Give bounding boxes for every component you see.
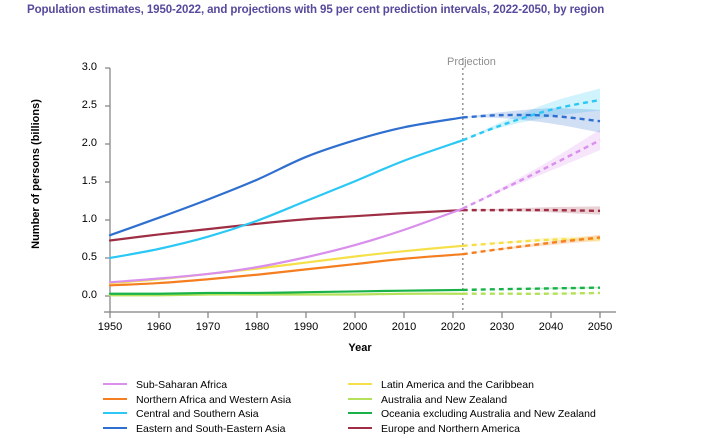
y-axis-tick-label: 2.5 — [63, 99, 97, 111]
x-axis-tick-label: 2030 — [482, 321, 522, 333]
y-axis-tick-label: 0.5 — [63, 251, 97, 263]
legend-item-label: Eastern and South-Eastern Asia — [136, 422, 285, 436]
y-axis-tick-label: 2.0 — [63, 137, 97, 149]
legend-item-label: Northern Africa and Western Asia — [136, 393, 291, 407]
y-axis-title: Number of persons (billions) — [30, 74, 42, 274]
legend-swatch-icon — [103, 383, 127, 385]
chart-plot-area: Number of persons (billions) Year Projec… — [0, 0, 701, 441]
chart-svg — [0, 0, 701, 441]
series-line-historical — [110, 210, 463, 240]
legend-item-label: Europe and Northern America — [381, 422, 520, 436]
x-axis-tick-label: 2000 — [335, 321, 375, 333]
legend-item[interactable]: Sub-Saharan Africa — [103, 378, 227, 392]
y-axis-tick-label: 3.0 — [63, 61, 97, 73]
series-line-historical — [110, 254, 463, 285]
legend-item[interactable]: Australia and New Zealand — [348, 393, 507, 407]
legend-swatch-icon — [348, 427, 372, 429]
legend-swatch-icon — [348, 398, 372, 400]
legend-item[interactable]: Latin America and the Caribbean — [348, 378, 534, 392]
prediction-interval-band — [463, 130, 600, 209]
legend-swatch-icon — [348, 412, 372, 414]
legend-item[interactable]: Europe and Northern America — [348, 422, 520, 436]
legend-item-label: Oceania excluding Australia and New Zeal… — [381, 407, 596, 421]
legend-item[interactable]: Central and Southern Asia — [103, 407, 259, 421]
y-axis-tick-label: 0.0 — [63, 289, 97, 301]
y-axis-tick-label: 1.0 — [63, 213, 97, 225]
x-axis-tick-label: 2050 — [580, 321, 620, 333]
projection-annotation: Projection — [447, 56, 496, 68]
x-axis-tick-label: 1980 — [237, 321, 277, 333]
legend-item-label: Latin America and the Caribbean — [381, 378, 534, 392]
legend-item[interactable]: Oceania excluding Australia and New Zeal… — [348, 407, 596, 421]
legend-item-label: Central and Southern Asia — [136, 407, 259, 421]
x-axis-tick-label: 1970 — [188, 321, 228, 333]
legend-item[interactable]: Northern Africa and Western Asia — [103, 393, 291, 407]
legend-swatch-icon — [103, 398, 127, 400]
legend-item-label: Sub-Saharan Africa — [136, 378, 227, 392]
x-axis-tick-label: 1950 — [90, 321, 130, 333]
legend-swatch-icon — [103, 412, 127, 414]
series-line-historical — [110, 140, 463, 258]
x-axis-title: Year — [110, 342, 610, 354]
series-line-historical — [110, 117, 463, 235]
legend-item-label: Australia and New Zealand — [381, 393, 507, 407]
x-axis-tick-label: 1960 — [139, 321, 179, 333]
legend-swatch-icon — [103, 427, 127, 429]
prediction-interval-band — [463, 108, 600, 132]
x-axis-tick-label: 2010 — [384, 321, 424, 333]
y-axis-tick-label: 1.5 — [63, 175, 97, 187]
legend-item[interactable]: Eastern and South-Eastern Asia — [103, 422, 285, 436]
x-axis-tick-label: 1990 — [286, 321, 326, 333]
legend-swatch-icon — [348, 383, 372, 385]
x-axis-tick-label: 2020 — [433, 321, 473, 333]
x-axis-tick-label: 2040 — [531, 321, 571, 333]
chart-legend: Sub-Saharan AfricaNorthern Africa and We… — [103, 378, 693, 438]
